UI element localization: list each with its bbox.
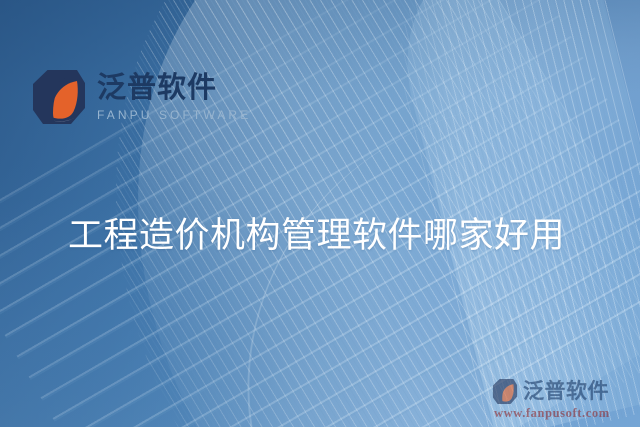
watermark: 泛普软件 www.fanpusoft.com	[492, 378, 634, 421]
watermark-logo-row: 泛普软件	[492, 378, 634, 405]
watermark-name-cn: 泛普软件	[523, 381, 609, 402]
skyscraper-photo	[0, 0, 640, 427]
fanpu-hexagon-logo-icon	[31, 68, 87, 126]
promo-banner: 泛普软件 FANPU SOFTWARE 工程造价机构管理软件哪家好用 泛普软件 …	[0, 0, 640, 427]
brand-name-en: FANPU SOFTWARE	[97, 106, 251, 124]
fanpu-hexagon-logo-icon	[492, 378, 518, 405]
brand-text-block: 泛普软件 FANPU SOFTWARE	[97, 70, 251, 123]
brand-name-cn: 泛普软件	[97, 72, 251, 103]
headline-title: 工程造价机构管理软件哪家好用	[68, 216, 565, 257]
brand-logo: 泛普软件 FANPU SOFTWARE	[31, 68, 251, 126]
watermark-url: www.fanpusoft.com	[494, 406, 634, 421]
